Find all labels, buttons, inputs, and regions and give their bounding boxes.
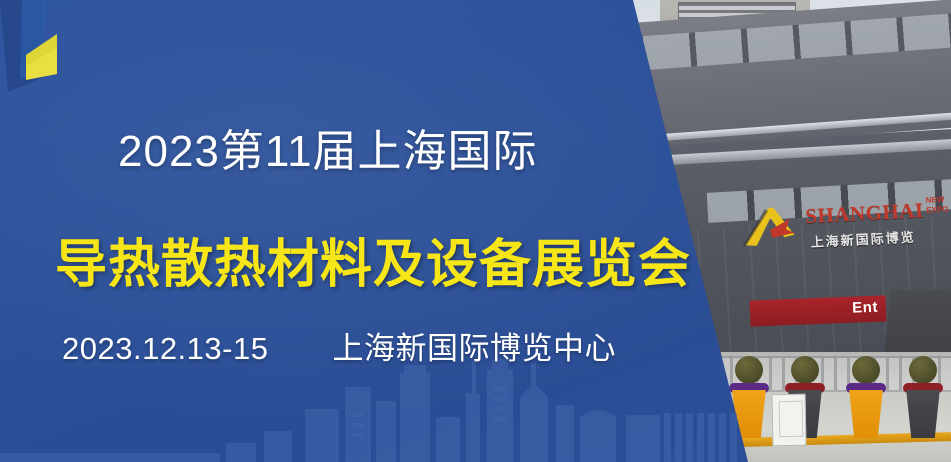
planter-pot: [902, 390, 944, 438]
logo-name-en-sub: NEW EXPO: [925, 195, 948, 216]
entrance-label: Ent: [852, 299, 878, 317]
page-subtitle: 导热散热材料及设备展览会: [55, 222, 691, 297]
planter-pot: [845, 390, 887, 438]
entrance-banner: Ent: [750, 295, 887, 326]
event-meta: 2023.12.13-15上海新国际博览中心: [62, 323, 616, 368]
topiary-icon: [852, 356, 880, 384]
event-venue: 上海新国际博览中心: [332, 331, 616, 366]
topiary-icon: [909, 356, 937, 384]
exhibition-banner: SHANGHAI NEW EXPO 上海新国际博览 Ent: [0, 0, 951, 462]
info-sign-board: [772, 394, 807, 447]
planter: [845, 390, 887, 438]
planter: [902, 390, 944, 438]
logo-name-en: SHANGHAI: [805, 198, 925, 229]
sniec-logo: SHANGHAI NEW EXPO 上海新国际博览: [740, 191, 951, 266]
topiary-icon: [791, 356, 819, 384]
topiary-icon: [735, 356, 763, 384]
logo-sub-line2: EXPO: [926, 205, 949, 216]
corner-decoration-icon: [0, 0, 95, 95]
event-dates: 2023.12.13-15: [62, 331, 268, 366]
logo-name-cn: 上海新国际博览: [810, 226, 916, 250]
page-title: 2023第11届上海国际: [118, 115, 538, 179]
chevron-icon: [741, 202, 809, 249]
